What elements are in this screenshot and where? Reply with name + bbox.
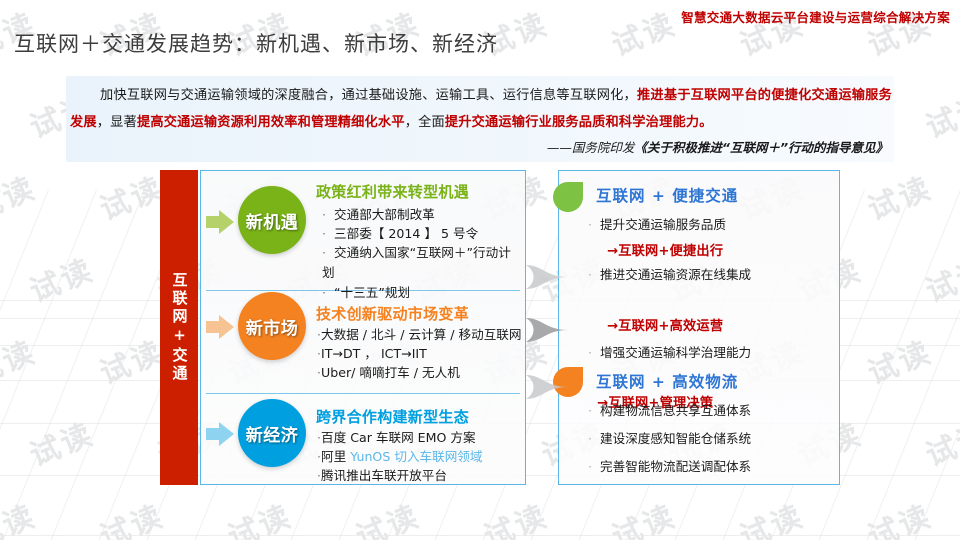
bullet-dot: · [322,285,334,300]
middle-bullet-text: 大数据 / 北斗 / 云计算 / 移动互联网 [321,327,521,342]
right-bullet-1-3: · 增强交通运输科学治理能力 [588,340,774,366]
right-bullet-1-1: · 提升交通运输服务品质 [588,212,726,237]
bullet-dot: · [588,345,600,360]
leaf-icon-green [553,182,583,212]
bullet-dot: · [322,207,334,222]
quote-text: 加快互联网与交通运输领域的深度融合，通过基础设施、运输工具、运行信息等互联网化，… [70,82,892,136]
right-bullet-text: 提升交通运输服务品质 [600,217,726,232]
quote-source-doc: 《关于积极推进“互联网＋”行动的指导意见》 [634,140,888,155]
right-arrow-1-1: →互联网+便捷出行 [607,240,723,259]
quote-red2: 提高交通运输资源利用效率和管理精细化水平 [137,115,405,130]
bullet-dot: · [588,403,600,418]
quote-red3: 提升交通运输行业服务品质和科学治理能力。 [445,115,713,130]
middle-bullet-text: Uber/ 嘀嘀打车 / 无人机 [321,365,460,380]
gray-chevron-1 [524,264,570,290]
left-red-bar-label: 互联网+交通 [160,170,198,485]
section-title-3: 跨界合作构建新型生态 [316,406,469,427]
right-bullet-text: 推进交通运输资源在线集成 [600,267,751,282]
bullet-dot: · [588,217,600,232]
middle-bullet-text-plain: 阿里 [321,449,350,464]
arrow-to-badge-2 [206,315,234,339]
arrow-to-badge-1 [206,210,234,234]
badge-new-market[interactable]: 新市场 [238,292,306,360]
middle-bullet-text-accent: YunOS 切入车联网领域 [350,449,482,464]
quote-source-prefix: ——国务院印发 [547,140,635,155]
middle-bullet-1-3: · 交通纳入国家“互联网＋”行动计划 [322,243,518,283]
right-bullet-text: 完善智能物流配送调配体系 [600,459,751,474]
arrow-head-2 [219,315,234,339]
quote-part1: 加快互联网与交通运输领域的深度融合，通过基础设施、运输工具、运行信息等互联网化， [100,88,637,103]
badge-new-economy[interactable]: 新经济 [238,399,306,467]
slide-canvas: 智慧交通大数据云平台建设与运营综合解决方案 互联网＋交通发展趋势：新机遇、新市场… [0,0,960,540]
middle-bullet-text: “十三五”规划 [334,285,410,300]
bullet-dot: · [588,431,600,446]
badge-new-opportunity[interactable]: 新机遇 [238,186,306,254]
middle-bullet-3-3: ·腾讯推出车联开放平台 [317,466,447,485]
bullet-dot: · [588,459,600,474]
bullet-dot: · [322,226,334,241]
section-title-2: 技术创新驱动市场变革 [316,303,469,324]
quote-part2: ，显著 [97,115,137,130]
bullet-dot: · [322,245,334,260]
middle-bullet-1-4: · “十三五”规划 [322,283,410,302]
right-bullet-2-2: · 建设深度感知智能仓储系统 [588,426,751,451]
header-brand-line: 智慧交通大数据云平台建设与运营综合解决方案 [681,7,950,26]
right-bullet-2-1: · 构建物流信息共享互通体系 [588,398,751,423]
quote-source: ——国务院印发《关于积极推进“互联网＋”行动的指导意见》 [547,137,888,156]
arrow-head-3 [219,422,234,446]
middle-bullet-2-3: ·Uber/ 嘀嘀打车 / 无人机 [317,363,460,382]
right-bullet-text: 构建物流信息共享互通体系 [600,403,751,418]
right-bullet-text: 建设深度感知智能仓储系统 [600,431,751,446]
right-title-2: 互联网 + 高效物流 [596,373,796,392]
middle-bullet-text: 腾讯推出车联开放平台 [321,468,447,483]
right-bullet-text: 增强交通运输科学治理能力 [600,345,751,360]
middle-bullet-2-2: ·IT→DT ， ICT→IIT [317,344,427,363]
right-bullet-2-3: · 完善智能物流配送调配体系 [588,454,751,479]
right-bullet-1-2: · 推进交通运输资源在线集成 [588,262,774,288]
middle-bullet-1-2: · 三部委【 2014 】 5 号令 [322,224,478,243]
middle-bullet-text: 三部委【 2014 】 5 号令 [334,226,478,241]
section-title-1: 政策红利带来转型机遇 [316,181,469,202]
middle-bullet-2-1: ·大数据 / 北斗 / 云计算 / 移动互联网 [317,325,521,344]
middle-bullet-text: IT→DT ， ICT→IIT [321,346,427,361]
middle-bullet-text: 交通纳入国家“互联网＋”行动计划 [322,245,511,280]
middle-bullet-1-1: · 交通部大部制改革 [322,205,435,224]
middle-bullet-text: 百度 Car 车联网 EMO 方案 [321,430,476,445]
gray-chevron-2 [524,317,570,343]
right-title-1: 互联网 + 便捷交通 [596,187,796,206]
page-title: 互联网＋交通发展趋势：新机遇、新市场、新经济 [14,28,498,58]
middle-bullet-3-1: ·百度 Car 车联网 EMO 方案 [317,428,476,447]
arrow-head-1 [219,210,234,234]
right-arrow-1-2: →互联网+高效运营 [607,315,723,334]
bullet-dot: · [588,267,600,282]
quote-part3: ，全面 [405,115,445,130]
middle-separator-2 [206,393,520,394]
gray-chevron-3 [524,374,570,400]
arrow-to-badge-3 [206,422,234,446]
middle-bullet-text: 交通部大部制改革 [334,207,435,222]
middle-bullet-3-2: ·阿里 YunOS 切入车联网领域 [317,447,483,466]
